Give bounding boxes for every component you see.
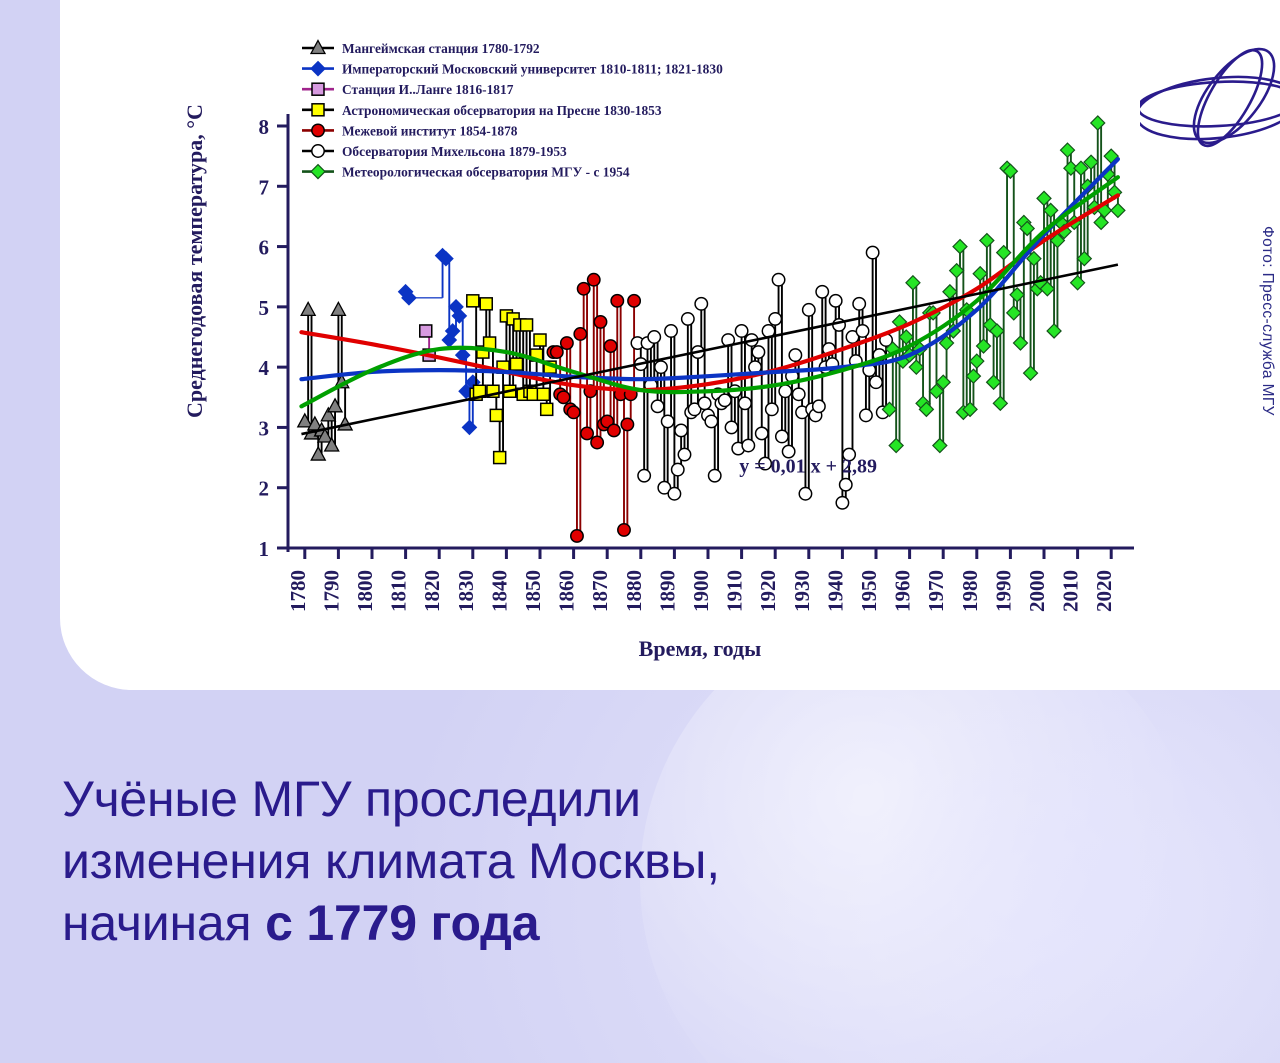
data-point: [628, 295, 640, 307]
data-point: [312, 104, 324, 116]
data-point: [840, 479, 852, 491]
climate-chart: Мангеймская станция 1780-1792Императорск…: [180, 18, 1140, 678]
y-tick-label: 6: [259, 236, 270, 260]
x-tick-label: 1840: [487, 570, 511, 612]
data-point: [695, 298, 707, 310]
data-point: [420, 325, 432, 337]
data-point: [490, 409, 502, 421]
legend-item: Обсерватория Михельсона 1879-1953: [302, 144, 567, 159]
headline-line-3-plain: начиная: [62, 895, 265, 951]
legend-label: Обсерватория Михельсона 1879-1953: [342, 144, 567, 159]
y-tick-label: 8: [259, 115, 270, 139]
x-tick-label: 1970: [924, 570, 948, 612]
x-tick-label: 1930: [790, 570, 814, 612]
data-point: [567, 406, 579, 418]
data-point: [725, 421, 737, 433]
data-point: [541, 403, 553, 415]
legend-label: Метеорологическая обсерватория МГУ - с 1…: [342, 165, 630, 180]
mgu-orbit-logo-icon: [1130, 40, 1280, 160]
headline-line-3-bold: с 1779 года: [265, 895, 539, 951]
data-point: [577, 283, 589, 295]
data-point: [719, 394, 731, 406]
data-point: [672, 463, 684, 475]
data-point: [561, 337, 573, 349]
data-point: [668, 488, 680, 500]
data-point: [739, 397, 751, 409]
legend-item: Астрономическая обсерватория на Пресне 1…: [302, 103, 662, 118]
data-point: [551, 346, 563, 358]
data-point: [752, 346, 764, 358]
x-tick-label: 1910: [723, 570, 747, 612]
x-tick-label: 1890: [655, 570, 679, 612]
y-tick-label: 1: [259, 537, 270, 561]
data-point: [766, 403, 778, 415]
x-tick-label: 1780: [286, 570, 310, 612]
headline-line-3: начиная с 1779 года: [62, 892, 1122, 954]
headline: Учёные МГУ проследили изменения климата …: [62, 768, 1122, 954]
x-tick-label: 2020: [1092, 570, 1116, 612]
data-point: [836, 497, 848, 509]
data-point: [655, 361, 667, 373]
trend-equation-label: y = 0,01 x + 2,89: [739, 456, 877, 478]
x-tick-label: 1860: [555, 570, 579, 612]
data-point: [494, 452, 506, 464]
data-point: [557, 391, 569, 403]
data-point: [588, 274, 600, 286]
legend-label: Императорский Московский университет 181…: [342, 62, 723, 77]
data-point: [870, 376, 882, 388]
data-point: [638, 469, 650, 481]
y-tick-label: 7: [259, 175, 270, 199]
data-point: [574, 328, 586, 340]
data-point: [776, 430, 788, 442]
figure-card: Фото: Пресс-служба МГУ Мангеймская станц…: [60, 0, 1280, 690]
x-tick-label: 1850: [521, 570, 545, 612]
data-point: [581, 427, 593, 439]
legend-label: Станция И..Ланге 1816-1817: [342, 82, 514, 97]
data-point: [829, 295, 841, 307]
data-point: [698, 397, 710, 409]
data-point: [769, 313, 781, 325]
data-point: [510, 358, 522, 370]
data-point: [789, 349, 801, 361]
y-tick-label: 5: [259, 296, 270, 320]
x-tick-label: 1790: [319, 570, 343, 612]
x-tick-label: 1830: [454, 570, 478, 612]
x-tick-label: 1800: [353, 570, 377, 612]
x-tick-label: 1980: [958, 570, 982, 612]
data-point: [594, 316, 606, 328]
data-point: [678, 448, 690, 460]
data-point: [779, 385, 791, 397]
data-point: [735, 325, 747, 337]
legend-item: Императорский Московский университет 181…: [302, 62, 723, 77]
headline-line-1: Учёные МГУ проследили: [62, 768, 1122, 830]
data-point: [591, 436, 603, 448]
data-point: [742, 439, 754, 451]
x-tick-label: 1900: [689, 570, 713, 612]
data-point: [312, 83, 324, 95]
data-point: [521, 319, 533, 331]
legend-item: Метеорологическая обсерватория МГУ - с 1…: [302, 165, 630, 180]
x-axis-title: Время, годы: [639, 636, 762, 661]
data-point: [665, 325, 677, 337]
data-point: [467, 295, 479, 307]
data-point: [675, 424, 687, 436]
legend-label: Мангеймская станция 1780-1792: [342, 41, 540, 56]
data-point: [611, 295, 623, 307]
x-tick-label: 1940: [823, 570, 847, 612]
x-tick-label: 1880: [622, 570, 646, 612]
data-point: [772, 274, 784, 286]
data-point: [604, 340, 616, 352]
data-point: [537, 388, 549, 400]
poster-root: Фото: Пресс-служба МГУ Мангеймская станц…: [0, 0, 1280, 1063]
chart-svg: Мангеймская станция 1780-1792Императорск…: [180, 18, 1140, 678]
y-tick-label: 3: [259, 416, 270, 440]
data-point: [856, 325, 868, 337]
legend-label: Межевой институт 1854-1878: [342, 123, 518, 138]
y-tick-label: 4: [259, 356, 270, 380]
data-point: [866, 246, 878, 258]
y-tick-label: 2: [259, 477, 270, 501]
data-point: [618, 524, 630, 536]
data-point: [480, 298, 492, 310]
data-point: [571, 530, 583, 542]
data-point: [648, 331, 660, 343]
x-tick-label: 2010: [1059, 570, 1083, 612]
data-point: [813, 400, 825, 412]
data-point: [621, 418, 633, 430]
data-point: [860, 409, 872, 421]
x-tick-label: 1870: [588, 570, 612, 612]
data-point: [756, 427, 768, 439]
data-point: [853, 298, 865, 310]
x-tick-label: 1810: [387, 570, 411, 612]
photo-credit: Фото: Пресс-служба МГУ: [1258, 226, 1276, 566]
data-point: [799, 488, 811, 500]
data-point: [534, 334, 546, 346]
x-tick-label: 1950: [857, 570, 881, 612]
x-tick-label: 1990: [991, 570, 1015, 612]
x-tick-label: 1960: [891, 570, 915, 612]
data-point: [682, 313, 694, 325]
headline-line-2: изменения климата Москвы,: [62, 830, 1122, 892]
data-point: [661, 415, 673, 427]
data-point: [709, 469, 721, 481]
data-point: [608, 424, 620, 436]
data-point: [803, 304, 815, 316]
data-point: [705, 415, 717, 427]
x-tick-label: 1920: [756, 570, 780, 612]
data-point: [312, 124, 324, 136]
data-point: [651, 400, 663, 412]
data-point: [312, 145, 324, 157]
x-tick-label: 1820: [420, 570, 444, 612]
y-axis-title: Среднегодовая температура, °C: [182, 104, 207, 418]
legend-label: Астрономическая обсерватория на Пресне 1…: [342, 103, 662, 118]
data-point: [793, 388, 805, 400]
x-tick-label: 2000: [1025, 570, 1049, 612]
data-point: [816, 286, 828, 298]
